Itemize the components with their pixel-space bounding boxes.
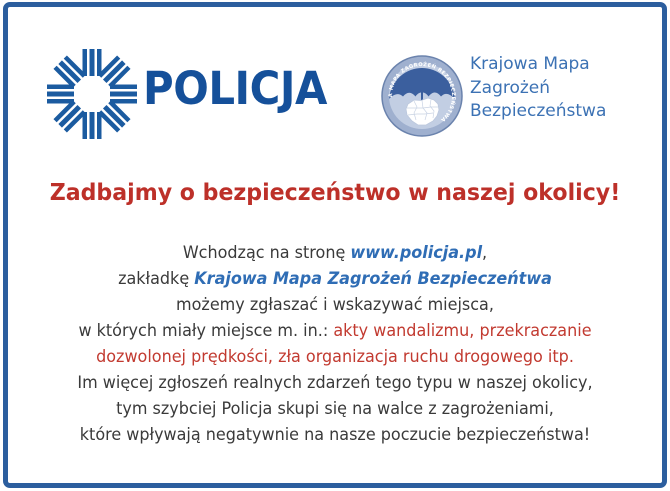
body-line-7: tym szybciej Policja skupi się na walce … [10,396,660,422]
body-line-1: Wchodząc na stronę www.policja.pl, [10,240,660,266]
kmzb-title: Krajowa Mapa Zagrożeń Bezpieczeństwa [470,53,606,124]
threat-examples-part-1: akty wandalizmu, przekraczanie [333,321,591,340]
logo-band: POLICJA [0,40,670,152]
policja-wordmark: POLICJA [143,63,327,115]
poster-headline: Zadbajmy o bezpieczeństwo w naszej okoli… [13,178,656,208]
body-line-1-tail: , [482,243,487,262]
poster-content: POLICJA [0,0,670,491]
kmzb-title-line-2: Zagrożeń [470,77,606,101]
body-line-1-lead: Wchodząc na stronę [183,243,351,262]
poster-body-text: Wchodząc na stronę www.policja.pl, zakła… [0,240,670,448]
body-line-4: w których miały miejsce m. in.: akty wan… [10,318,660,344]
body-line-2-lead: zakładkę [118,269,194,288]
kmzb-seal-icon: KRAJOWA MAPA ZAGROŻEŃ BEZPIECZEŃSTWA [381,55,463,137]
kmzb-title-line-1: Krajowa Mapa [470,53,606,77]
police-safety-poster: POLICJA [0,0,670,491]
kmzb-tab-name: Krajowa Mapa Zagrożeń Bezpieczeńtwa [194,269,552,288]
body-line-4-lead: w których miały miejsce m. in.: [78,321,333,340]
body-line-3: możemy zgłaszać i wskazywać miejsca, [10,292,660,318]
body-line-8: które wpływają negatywnie na nasze poczu… [10,422,660,448]
threat-examples-part-2: dozwolonej prędkości, zła organizacja ru… [10,344,660,370]
kmzb-title-line-3: Bezpieczeństwa [470,100,606,124]
policja-website-link[interactable]: www.policja.pl [350,243,482,262]
polish-police-star-icon [46,48,138,140]
body-line-2: zakładkę Krajowa Mapa Zagrożeń Bezpiecze… [10,266,660,292]
body-line-6: Im więcej zgłoszeń realnych zdarzeń tego… [10,370,660,396]
